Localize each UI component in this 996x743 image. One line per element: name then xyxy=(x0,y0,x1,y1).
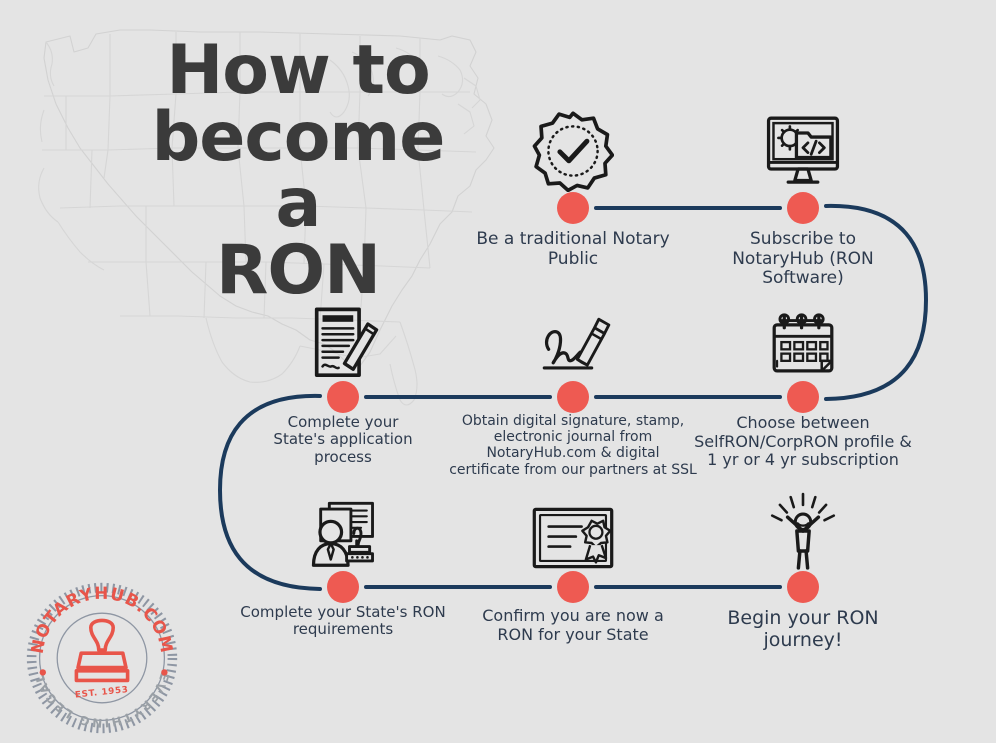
monitor-code-gear-icon xyxy=(762,110,844,192)
step-dot-1 xyxy=(557,192,589,224)
step-caption-4: Obtain digital signature, stamp, electro… xyxy=(438,413,708,478)
step-caption-8: Begin your RON journey! xyxy=(703,607,903,651)
step-dot-7 xyxy=(557,571,589,603)
step-caption-5: Complete your State's application proces… xyxy=(243,414,443,466)
step-dot-5 xyxy=(327,381,359,413)
notary-stamp-person-icon xyxy=(302,499,384,571)
rubber-stamp-icon xyxy=(76,620,127,680)
step-dot-4 xyxy=(557,381,589,413)
step-caption-3: Choose between SelfRON/CorpRON profile &… xyxy=(683,414,923,470)
notaryhub-logo[interactable]: NOTARYHUB.COM EVERYTHING LEGAL EST. 1953 xyxy=(18,578,186,738)
step-caption-7: Confirm you are now a RON for your State xyxy=(458,607,688,644)
step-dot-2 xyxy=(787,192,819,224)
step-dot-6 xyxy=(327,571,359,603)
step-caption-2: Subscribe to NotaryHub (RON Software) xyxy=(713,230,893,289)
document-pencil-icon xyxy=(306,305,380,381)
step-dot-8 xyxy=(787,571,819,603)
celebration-person-icon xyxy=(764,491,842,571)
step-dot-3 xyxy=(787,381,819,413)
signature-pen-icon xyxy=(530,309,616,381)
certificate-seal-icon xyxy=(530,505,616,571)
calendar-icon xyxy=(767,309,839,381)
verified-badge-icon xyxy=(532,110,614,192)
infographic-canvas: How to become a RON xyxy=(0,0,996,743)
step-caption-1: Be a traditional Notary Public xyxy=(448,230,698,269)
step-caption-6: Complete your State's RON requirements xyxy=(218,604,468,639)
